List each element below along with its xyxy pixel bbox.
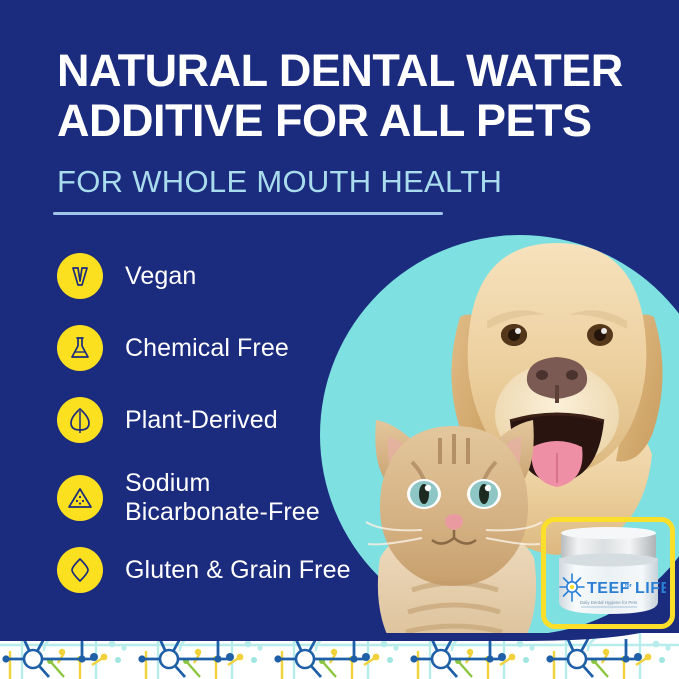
feature-item-vegan: Vegan	[57, 253, 387, 299]
grain-seed-icon	[57, 547, 103, 593]
headline-line-2: ADDITIVE FOR ALL PETS	[57, 96, 647, 146]
feature-item-plant-derived: Plant-Derived	[57, 397, 387, 443]
feature-label: Vegan	[125, 262, 196, 291]
vegan-v-icon	[57, 253, 103, 299]
footer-circuit-pattern	[0, 633, 679, 679]
feature-item-sodium-bicarbonate-free: Sodium Bicarbonate-Free	[57, 469, 387, 527]
feature-item-gluten-grain-free: Gluten & Grain Free	[57, 547, 387, 593]
feature-label: Plant-Derived	[125, 406, 278, 435]
leaf-icon	[57, 397, 103, 443]
subtitle: FOR WHOLE MOUTH HEALTH	[57, 164, 502, 200]
flask-icon	[57, 325, 103, 371]
feature-label: Sodium Bicarbonate-Free	[125, 469, 320, 527]
salt-triangle-icon	[57, 475, 103, 521]
product-advertisement: NATURAL DENTAL WATER ADDITIVE FOR ALL PE…	[0, 0, 679, 679]
divider	[53, 212, 443, 215]
feature-label: Gluten & Grain Free	[125, 556, 351, 585]
product-jar-frame	[541, 517, 675, 629]
feature-item-chemical-free: Chemical Free	[57, 325, 387, 371]
headline-line-1: NATURAL DENTAL WATER	[57, 45, 623, 96]
headline: NATURAL DENTAL WATER ADDITIVE FOR ALL PE…	[57, 46, 647, 146]
feature-label: Chemical Free	[125, 334, 289, 363]
feature-list: Vegan Chemical Free Plant-Derived	[57, 253, 387, 619]
